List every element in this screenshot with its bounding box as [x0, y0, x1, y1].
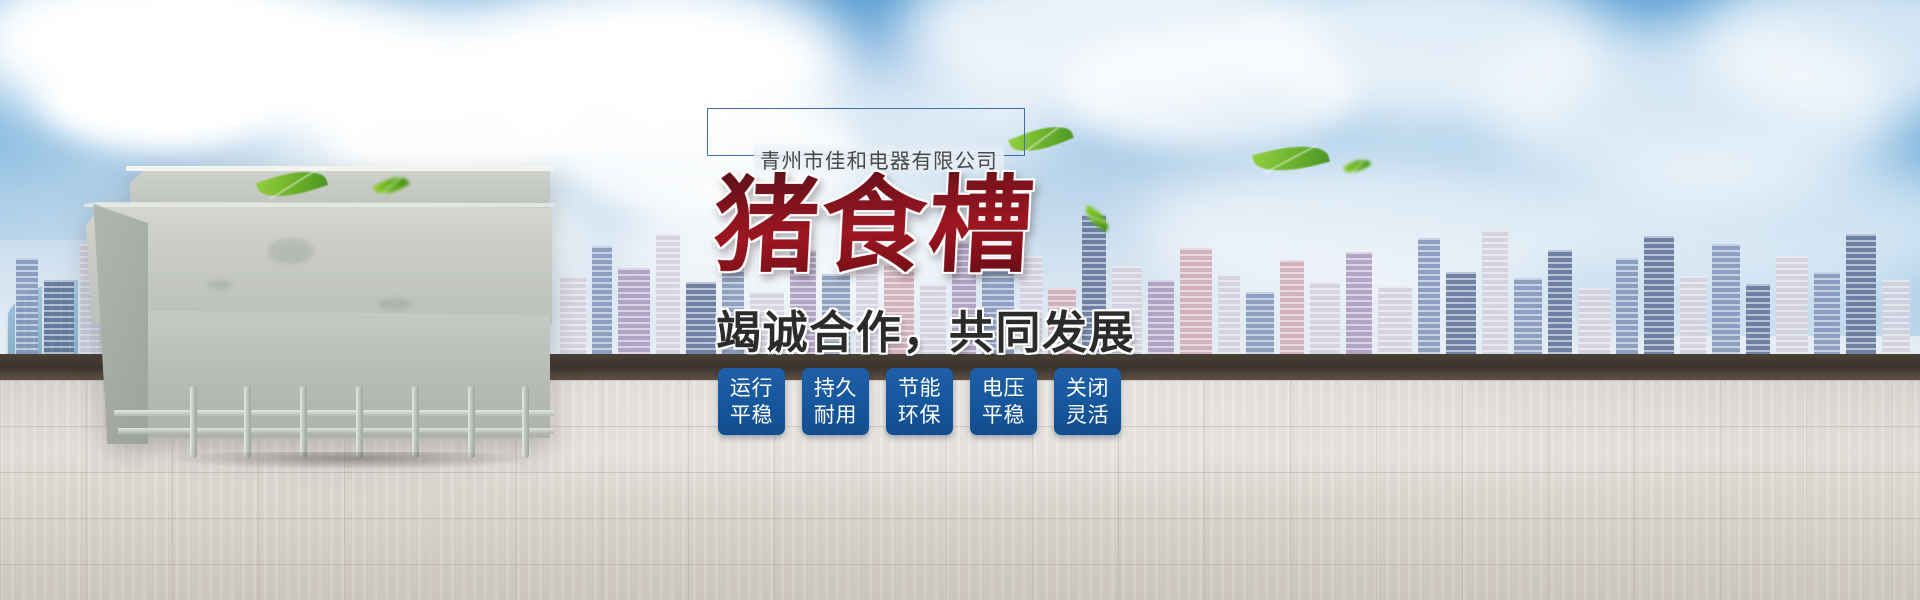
- badge-line-2: 环保: [898, 402, 941, 428]
- badge-line-2: 灵活: [1066, 402, 1109, 428]
- feature-badge[interactable]: 关闭 灵活: [1054, 368, 1121, 435]
- badge-line-1: 节能: [898, 375, 941, 401]
- page-title: 猪食槽: [711, 172, 1038, 279]
- badge-line-2: 平稳: [982, 402, 1025, 428]
- feature-badge[interactable]: 持久 耐用: [802, 368, 869, 435]
- badge-line-2: 平稳: [730, 402, 773, 428]
- feature-badge[interactable]: 运行 平稳: [718, 368, 785, 435]
- feature-badge-list: 运行 平稳 持久 耐用 节能 环保 电压 平稳 关闭 灵活: [718, 368, 1121, 435]
- badge-line-1: 电压: [982, 375, 1025, 401]
- badge-line-2: 耐用: [814, 402, 857, 428]
- feature-badge[interactable]: 节能 环保: [886, 368, 953, 435]
- product-image-feeding-trough: [78, 160, 558, 460]
- promo-banner: 青州市佳和电器有限公司 猪食槽 竭诚合作，共同发展 运行 平稳 持久 耐用 节能…: [0, 0, 1920, 600]
- badge-line-1: 运行: [730, 375, 773, 401]
- badge-line-1: 持久: [814, 375, 857, 401]
- feature-badge[interactable]: 电压 平稳: [970, 368, 1037, 435]
- subtitle: 竭诚合作，共同发展: [716, 296, 1135, 361]
- badge-line-1: 关闭: [1066, 375, 1109, 401]
